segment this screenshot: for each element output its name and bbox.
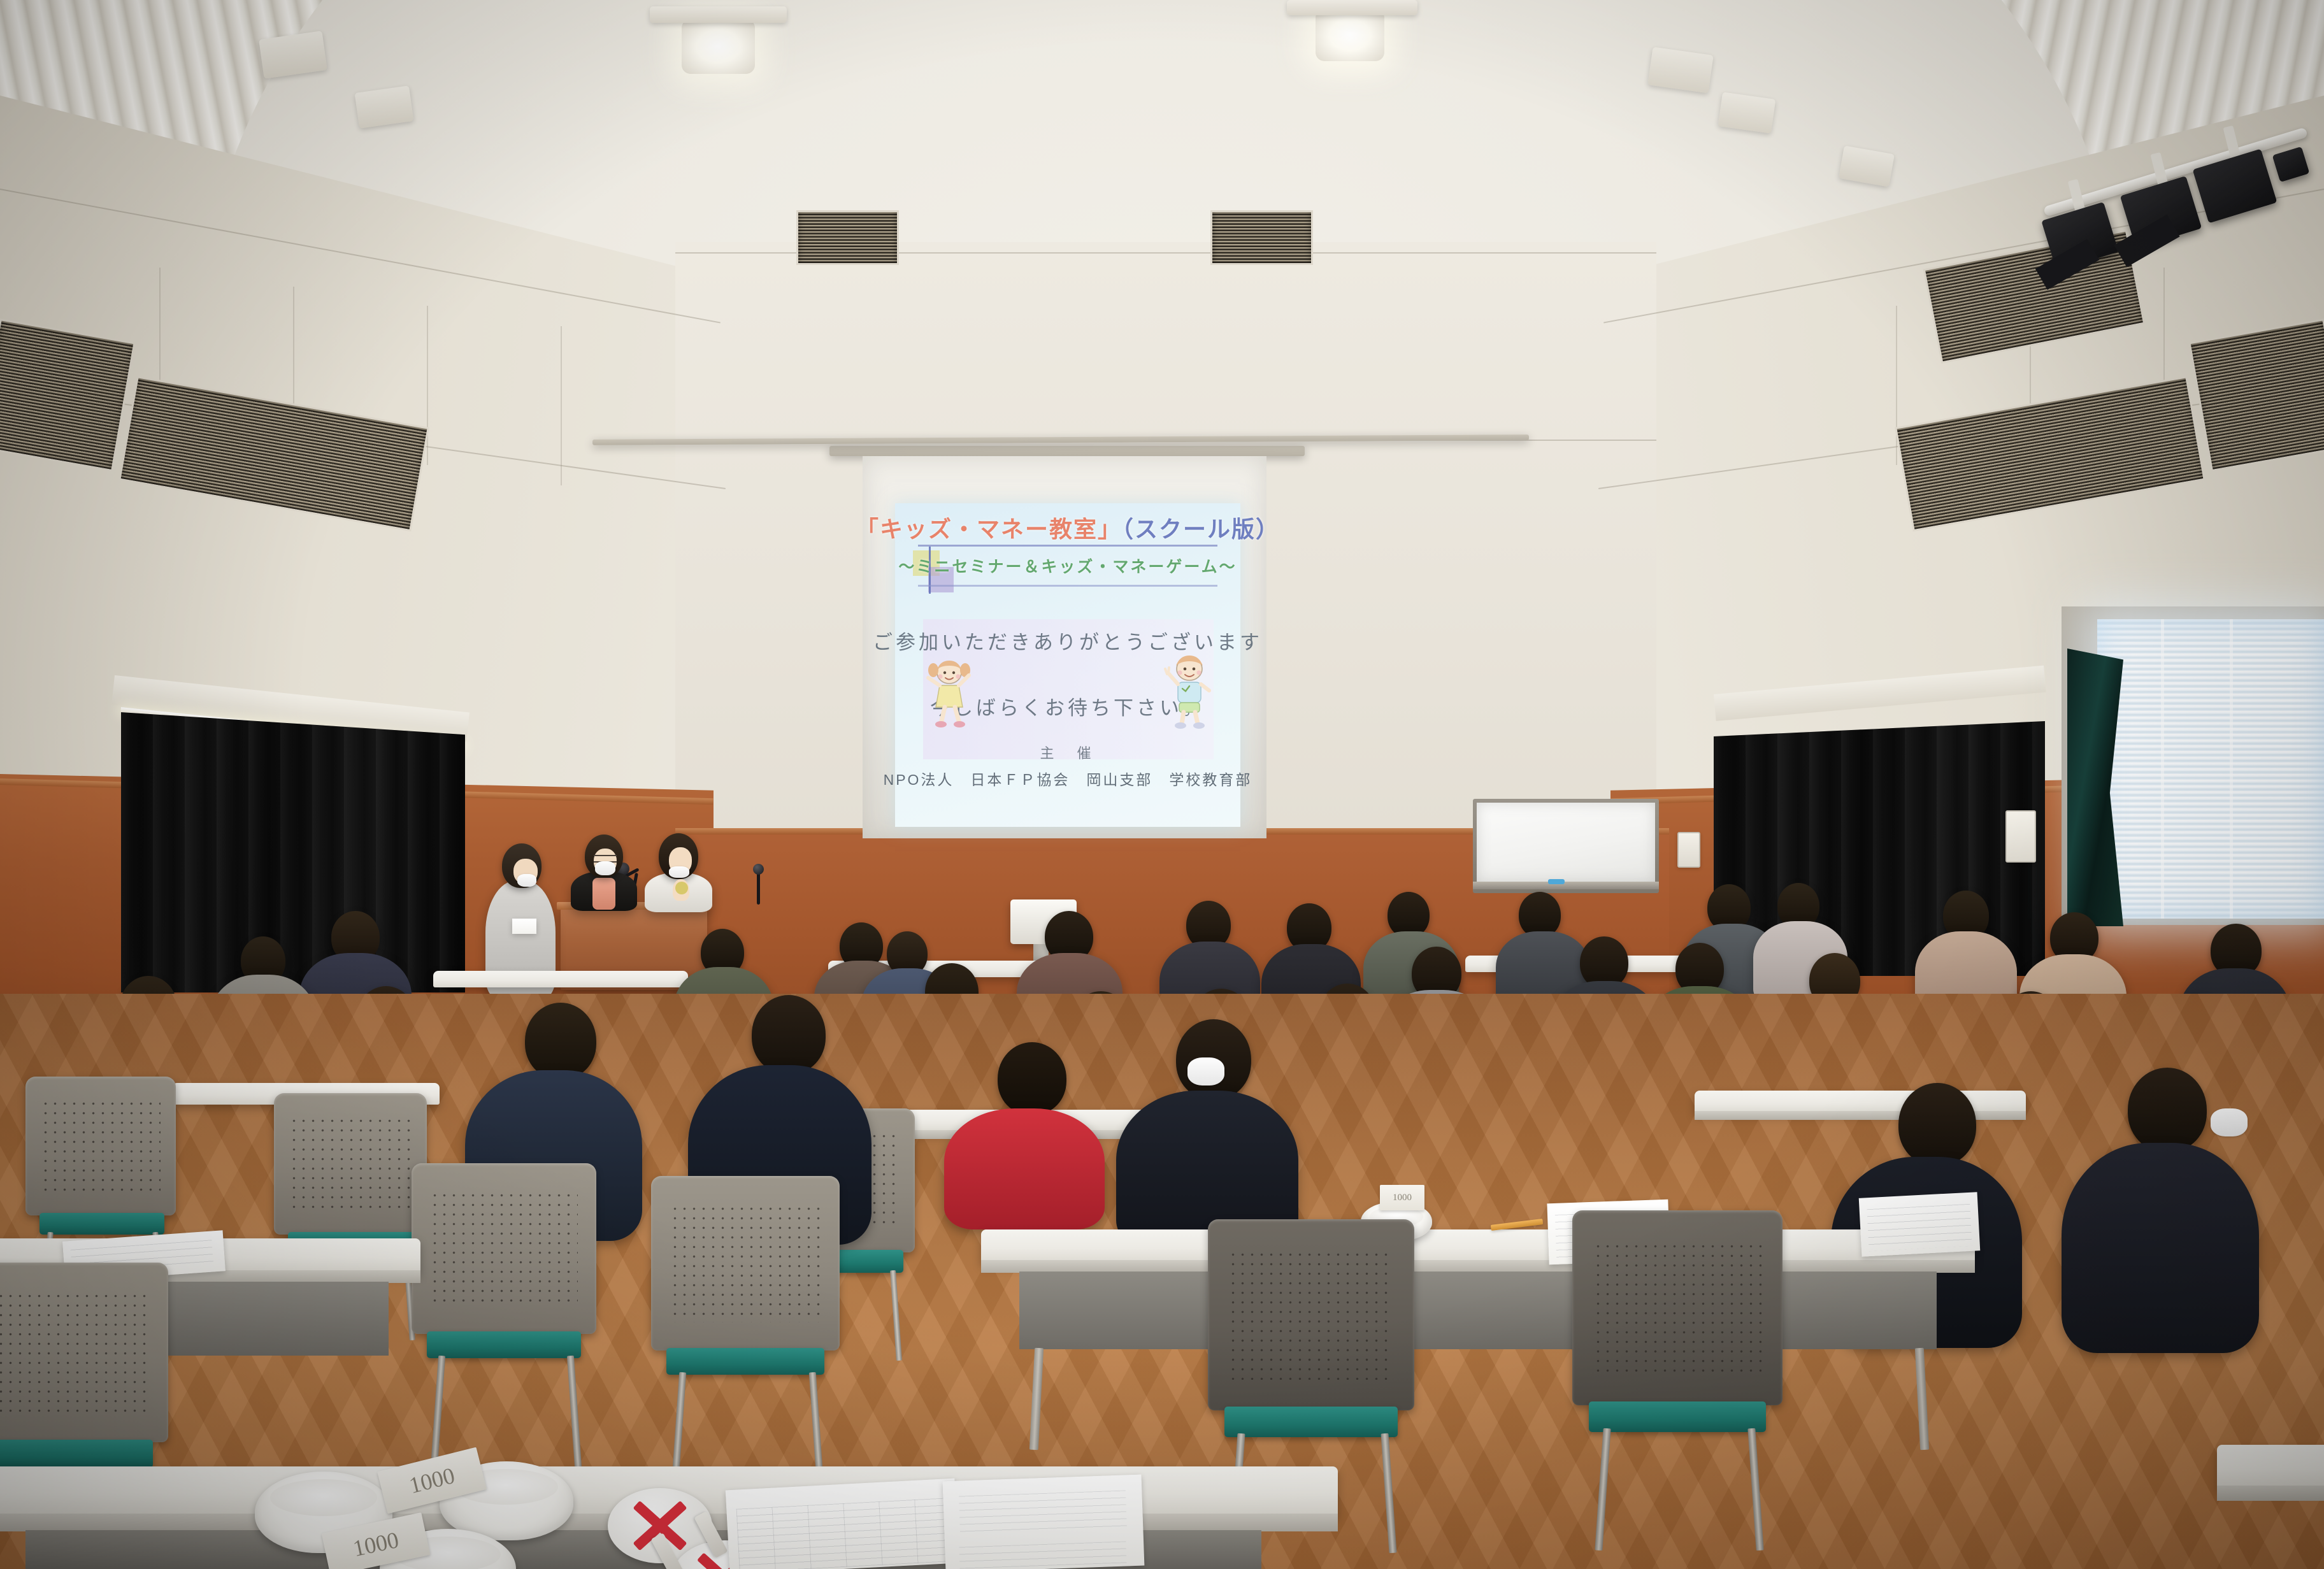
presenter-name-tag <box>512 919 536 934</box>
audience-head-foreground <box>525 1003 596 1079</box>
whiteboard <box>1477 803 1655 883</box>
wall-panel-joint <box>427 306 428 465</box>
table-edge <box>1695 1111 2026 1120</box>
chair[interactable] <box>274 1093 427 1235</box>
audience-head-foreground <box>2128 1068 2207 1152</box>
cartoon-girl-icon <box>923 659 975 730</box>
wall-switch-panel[interactable] <box>2005 810 2036 863</box>
worksheet-lines <box>1867 1204 1972 1251</box>
wall-panel-joint <box>561 326 562 485</box>
stage-curtain-folds <box>121 712 465 992</box>
cartoon-boy-icon <box>1161 654 1217 729</box>
ventilation-grille <box>0 319 136 471</box>
ceiling-light-fixture <box>650 6 787 23</box>
audience-body-foreground <box>2062 1143 2259 1353</box>
audience-mask <box>1187 1057 1224 1085</box>
slide-host-label: 主 催 <box>1040 742 1095 763</box>
chair-front[interactable] <box>1572 1210 1782 1405</box>
presenter-main-chin-mask <box>669 866 689 878</box>
ceiling-light-fixture <box>1287 0 1417 15</box>
child-head-foreground <box>998 1042 1066 1115</box>
screen-roller <box>829 446 1305 456</box>
slide-title: 「キッズ・マネー教室」（スクール版） <box>856 515 1280 544</box>
whiteboard-tray <box>1473 882 1659 889</box>
child-body-red <box>944 1108 1105 1229</box>
audience-head-foreground <box>1898 1083 1976 1166</box>
ceiling-speaker <box>355 85 414 128</box>
audience-head-foreground <box>752 995 826 1074</box>
handout-text-lines <box>959 1490 1127 1534</box>
whiteboard-marker[interactable] <box>1548 879 1565 884</box>
slide-content: 「キッズ・マネー教室」（スクール版） ～ミニセミナー＆キッズ・マネーゲーム～ ご… <box>895 503 1240 827</box>
blind-cord <box>2161 619 2164 919</box>
ceiling-speaker <box>1718 92 1776 133</box>
worksheet-columns <box>736 1498 950 1569</box>
presenter-staff-mask <box>517 874 536 887</box>
chair[interactable] <box>25 1077 176 1215</box>
ventilation-grille <box>2188 319 2324 471</box>
chair-front[interactable] <box>651 1176 840 1350</box>
bowl-interior <box>270 1479 377 1516</box>
window-blinds <box>2097 619 2324 919</box>
presenter-glasses-mask <box>595 861 615 875</box>
chair-front[interactable] <box>0 1263 168 1442</box>
table-front-center <box>981 1229 1975 1264</box>
slide-host-organization: NPO法人 日本ＦＰ協会 岡山支部 学校教育部 <box>884 768 1252 789</box>
presenter-lanyard <box>675 882 688 894</box>
table-back <box>433 971 688 987</box>
table-row3-right <box>1695 1091 2026 1114</box>
table-edge <box>981 1260 1975 1273</box>
microphone-head[interactable] <box>753 864 764 875</box>
chair-front[interactable] <box>1208 1219 1414 1410</box>
table-nearest-right <box>2217 1445 2324 1489</box>
play-money-note[interactable]: 1000 <box>1380 1185 1424 1210</box>
presenter-glasses-scarf <box>592 878 615 910</box>
table-edge <box>2217 1486 2324 1501</box>
wall-control-panel[interactable] <box>1677 832 1700 868</box>
table-modesty-panel <box>1019 1272 1937 1349</box>
seminar-room-photo: 「キッズ・マネー教室」（スクール版） ～ミニセミナー＆キッズ・マネーゲーム～ ご… <box>0 0 2324 1569</box>
ceiling-light <box>1316 9 1384 61</box>
ventilation-grille <box>1210 210 1313 265</box>
ceiling-light <box>682 19 755 74</box>
blind-cord <box>2230 619 2233 919</box>
ventilation-grille <box>796 210 899 265</box>
chair-front[interactable] <box>412 1163 596 1334</box>
slide-message-line1: ご参加いただきありがとうございます <box>873 626 1263 655</box>
microphone-stand[interactable] <box>757 871 760 905</box>
audience-mask <box>2211 1108 2248 1136</box>
subtitle-underline <box>918 585 1217 587</box>
slide-subtitle: ～ミニセミナー＆キッズ・マネーゲーム～ <box>898 554 1237 577</box>
